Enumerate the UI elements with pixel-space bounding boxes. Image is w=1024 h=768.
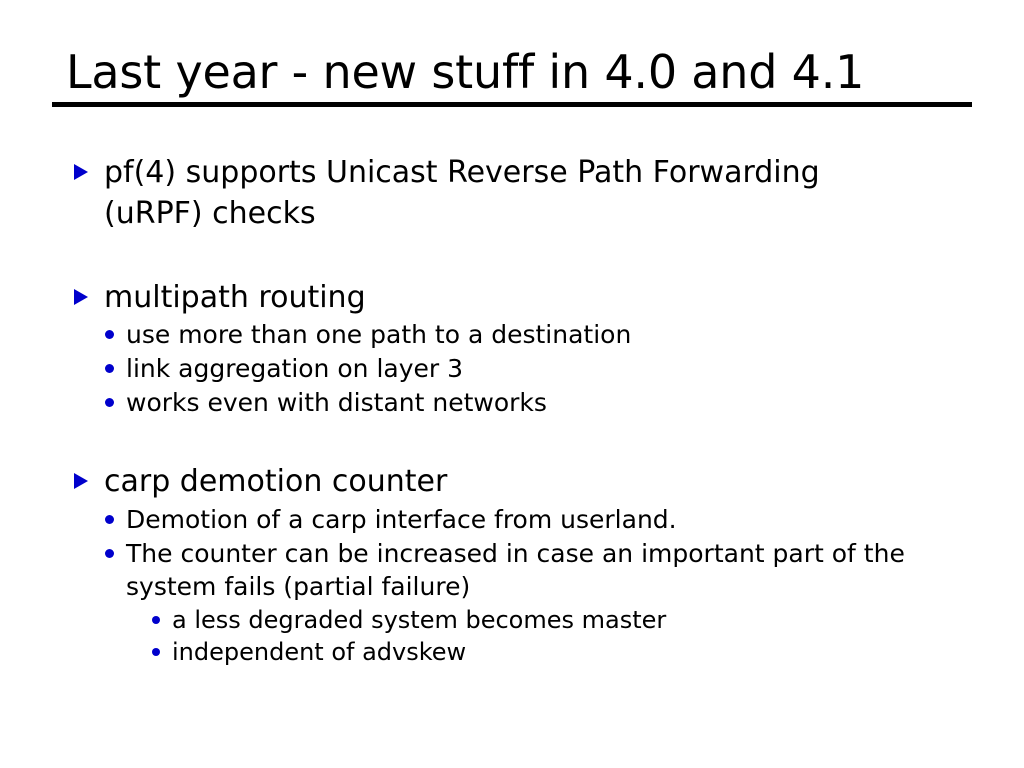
list-item-label: multipath routing	[104, 280, 366, 315]
triangle-right-icon	[74, 289, 88, 305]
round-dot-icon	[152, 616, 160, 624]
list-item: Demotion of a carp interface from userla…	[60, 503, 980, 537]
list-item: a less degraded system becomes master	[60, 604, 980, 636]
list-item-label: works even with distant networks	[126, 388, 547, 417]
section-spacer	[60, 235, 980, 277]
title-divider	[52, 102, 972, 107]
list-item: link aggregation on layer 3	[60, 352, 980, 386]
section-spacer	[60, 419, 980, 461]
list-item: independent of advskew	[60, 636, 980, 668]
round-dot-icon	[105, 549, 114, 558]
list-item-label: Demotion of a carp interface from userla…	[126, 505, 677, 534]
list-item-label: link aggregation on layer 3	[126, 354, 463, 383]
list-item: carp demotion counter	[60, 461, 980, 502]
list-item: pf(4) supports Unicast Reverse Path Forw…	[60, 152, 904, 235]
list-item-label: The counter can be increased in case an …	[126, 539, 905, 602]
list-item-label: a less degraded system becomes master	[172, 606, 666, 634]
triangle-right-icon	[74, 164, 88, 180]
list-item: use more than one path to a destination	[60, 318, 980, 352]
list-item: works even with distant networks	[60, 386, 980, 420]
slide-header: Last year - new stuff in 4.0 and 4.1	[52, 48, 972, 107]
presentation-slide: Last year - new stuff in 4.0 and 4.1 pf(…	[0, 0, 1024, 768]
slide-body: pf(4) supports Unicast Reverse Path Forw…	[60, 152, 980, 669]
round-dot-icon	[105, 515, 114, 524]
list-item-label: independent of advskew	[172, 638, 466, 666]
triangle-right-icon	[74, 473, 88, 489]
round-dot-icon	[105, 398, 114, 407]
round-dot-icon	[105, 330, 114, 339]
list-item-label: carp demotion counter	[104, 464, 447, 499]
page-title: Last year - new stuff in 4.0 and 4.1	[52, 48, 972, 96]
round-dot-icon	[105, 364, 114, 373]
round-dot-icon	[152, 648, 160, 656]
list-item-label: pf(4) supports Unicast Reverse Path Forw…	[104, 155, 820, 231]
list-item: multipath routing	[60, 277, 980, 318]
list-item-label: use more than one path to a destination	[126, 320, 631, 349]
list-item: The counter can be increased in case an …	[60, 537, 966, 605]
